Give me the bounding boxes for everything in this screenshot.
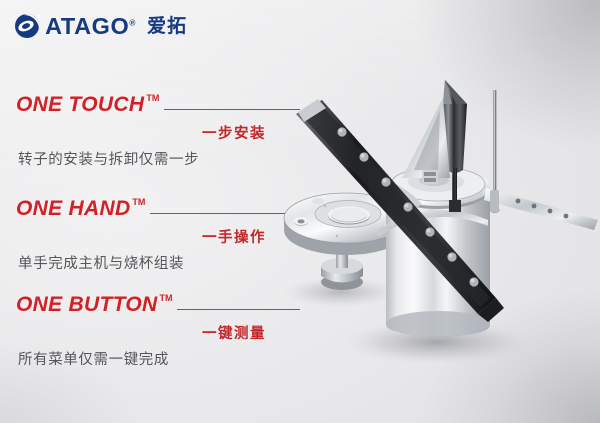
headline-rule: [164, 109, 300, 110]
feature-description: 转子的安装与拆卸仅需一步: [0, 148, 310, 169]
logo-chinese-name: 爱拓: [147, 17, 187, 36]
registered-mark: ®: [129, 18, 136, 27]
promo-banner: ATAGO® 爱拓 ONE TOUCH TM 一步安装 转子的安装与拆卸仅需一步…: [0, 0, 600, 423]
viscometer-illustration: [282, 70, 600, 370]
trademark-mark: TM: [159, 292, 172, 304]
feature-block-one-hand: ONE HAND TM 一手操作 单手完成主机与烧杯组装: [0, 196, 310, 273]
feature-description: 单手完成主机与烧杯组装: [0, 252, 310, 273]
feature-block-one-button: ONE BUTTON TM 一键测量 所有菜单仅需一键完成: [0, 292, 310, 369]
feature-subhead: 一步安装: [0, 122, 310, 143]
atago-swoosh-icon: [14, 13, 40, 39]
trademark-mark: TM: [146, 92, 159, 104]
side-handle-rod: [484, 188, 598, 230]
feature-description: 所有菜单仅需一键完成: [0, 348, 310, 369]
headline-row: ONE BUTTON TM: [0, 292, 310, 320]
feature-block-one-touch: ONE TOUCH TM 一步安装 转子的安装与拆卸仅需一步: [0, 92, 310, 169]
headline-row: ONE TOUCH TM: [0, 92, 310, 120]
feature-subhead: 一键测量: [0, 322, 310, 343]
trademark-mark: TM: [132, 196, 145, 208]
feature-headline: ONE TOUCH: [16, 92, 144, 118]
logo-wordmark-text: ATAGO: [45, 13, 129, 39]
logo-wordmark: ATAGO®: [45, 15, 136, 38]
feature-subhead: 一手操作: [0, 226, 310, 247]
headline-row: ONE HAND TM: [0, 196, 310, 224]
needle-rod: [490, 90, 500, 213]
clamp-knob: [422, 170, 438, 184]
headline-rule: [150, 213, 300, 214]
product-photo: [282, 70, 600, 370]
atago-logo[interactable]: ATAGO® 爱拓: [14, 13, 187, 39]
feature-headline: ONE BUTTON: [16, 292, 157, 318]
feature-headline: ONE HAND: [16, 196, 130, 222]
